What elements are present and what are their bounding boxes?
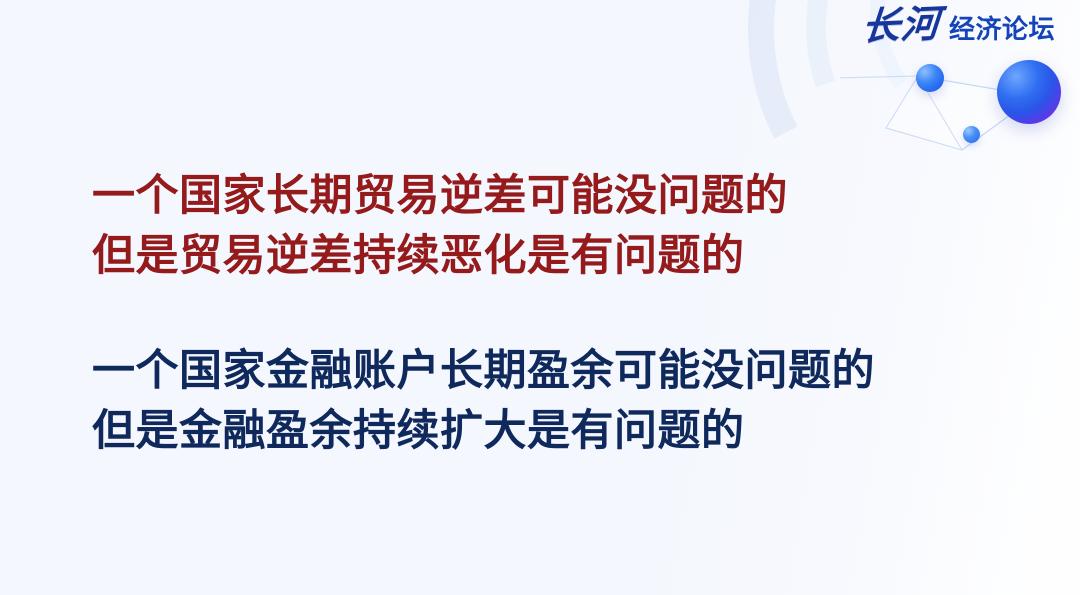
statement-line: 一个国家金融账户长期盈余可能没问题的 bbox=[92, 341, 992, 401]
presentation-slide: 长河 经济论坛 一个国家长期贸易逆差可能没问题的 但是贸易逆差持续恶化是有问题的… bbox=[0, 0, 1080, 595]
small-gradient-sphere-icon bbox=[963, 126, 980, 143]
statement-container: 一个国家长期贸易逆差可能没问题的 但是贸易逆差持续恶化是有问题的 一个国家金融账… bbox=[92, 166, 992, 461]
statement-block-financial-surplus: 一个国家金融账户长期盈余可能没问题的 但是金融盈余持续扩大是有问题的 bbox=[92, 341, 992, 461]
statement-line: 一个国家长期贸易逆差可能没问题的 bbox=[92, 166, 992, 226]
statement-block-trade-deficit: 一个国家长期贸易逆差可能没问题的 但是贸易逆差持续恶化是有问题的 bbox=[92, 166, 992, 286]
brand-logo: 长河 经济论坛 bbox=[862, 6, 1055, 44]
statement-line: 但是金融盈余持续扩大是有问题的 bbox=[92, 401, 992, 461]
medium-gradient-sphere-icon bbox=[916, 64, 944, 92]
logo-calligraphy-mark: 长河 bbox=[860, 4, 941, 45]
statement-line: 但是贸易逆差持续恶化是有问题的 bbox=[92, 226, 992, 286]
large-gradient-sphere-icon bbox=[997, 60, 1061, 124]
logo-wordmark: 经济论坛 bbox=[949, 16, 1055, 42]
